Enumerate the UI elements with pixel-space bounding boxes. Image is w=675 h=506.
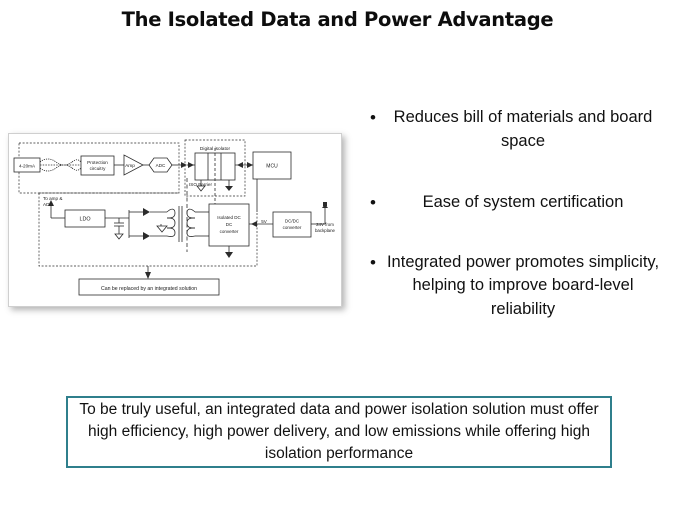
block-diagram-image: 4-20mA Protection circuitry Amp ADC Digi… [8,133,342,307]
diagram-label-to-amp-line2: ADC [43,202,53,207]
bullet-text: Integrated power promotes simplicity, he… [380,251,670,322]
diagram-label-protection-line1: Protection [87,160,108,165]
diagram-label-digital-isolator: Digital isolator [200,146,231,152]
bullet-marker-icon: • [358,106,380,129]
bullet-marker-icon: • [358,251,380,274]
diagram-label-amp: Amp [125,163,135,169]
diagram-label-dcdc-line2: converter [283,225,302,230]
list-item: • Ease of system certification [358,191,670,215]
diagram-label-isolated-dcdc-line1: Isolated DC [217,215,241,220]
diagram-label-backplane-line1: 24V from [316,222,334,227]
diagram-label-to-amp-line1: To amp & [43,196,62,201]
list-item: • Integrated power promotes simplicity, … [358,251,670,322]
diagram-label-rail-5v: 5V [261,219,268,224]
bullet-text: Ease of system certification [380,191,670,215]
bullet-list: • Reduces bill of materials and board sp… [358,106,670,349]
diagram-label-mcu: MCU [266,164,278,170]
page-title: The Isolated Data and Power Advantage [0,8,675,31]
diagram-label-isolated-dcdc-line2: DC [226,222,233,227]
bullet-marker-icon: • [358,191,380,214]
diagram-label-adc: ADC [156,163,166,168]
diagram-label-backplane-line2: backplane [315,228,336,233]
bullet-text: Reduces bill of materials and board spac… [380,106,670,153]
diagram-label-footer-note: Can be replaced by an integrated solutio… [101,286,197,292]
summary-callout-text: To be truly useful, an integrated data a… [68,399,610,465]
block-diagram-svg: 4-20mA Protection circuitry Amp ADC Digi… [9,134,341,306]
diagram-label-protection-line2: circuitry [90,166,107,171]
diagram-label-dcdc-line1: DC/DC [285,219,300,224]
list-item: • Reduces bill of materials and board sp… [358,106,670,153]
summary-callout-box: To be truly useful, an integrated data a… [66,396,612,468]
diagram-label-ldo: LDO [79,217,90,223]
diagram-label-isolated-dcdc-line3: converter [220,229,239,234]
diagram-label-sensor-input: 4-20mA [19,164,36,169]
diagram-label-iso-barrier: ISO Barrier [189,182,212,187]
